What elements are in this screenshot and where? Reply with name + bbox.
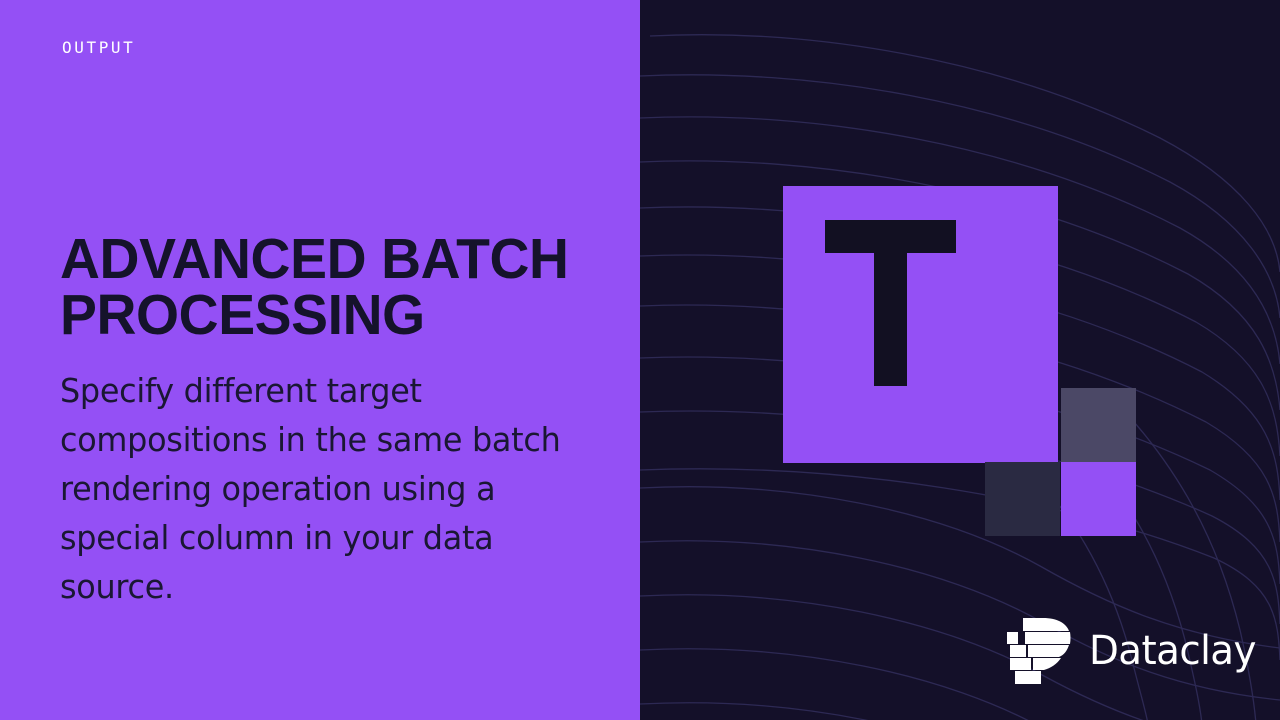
dataclay-d-mark-icon [1007,618,1071,684]
letter-t-crossbar [825,220,956,253]
gray-tile [1061,388,1136,462]
navy-tile [985,462,1060,536]
template-t-graphic [783,186,1058,536]
letter-t-icon [825,220,956,386]
page-title: ADVANCED BATCH PROCESSING [60,231,584,344]
right-graphic-panel: Dataclay [640,0,1280,720]
brand-lockup: Dataclay [1007,618,1261,684]
brand-wordmark: Dataclay [1089,631,1256,671]
eyebrow-label: OUTPUT [62,38,135,57]
description-text: Specify different target compositions in… [60,366,581,612]
purple-tile [1061,462,1136,536]
slide-root: OUTPUT ADVANCED BATCH PROCESSING Specify… [0,0,1280,720]
letter-t-stem [874,253,907,386]
left-content-panel: OUTPUT ADVANCED BATCH PROCESSING Specify… [0,0,640,720]
copy-block: ADVANCED BATCH PROCESSING Specify differ… [60,231,600,612]
